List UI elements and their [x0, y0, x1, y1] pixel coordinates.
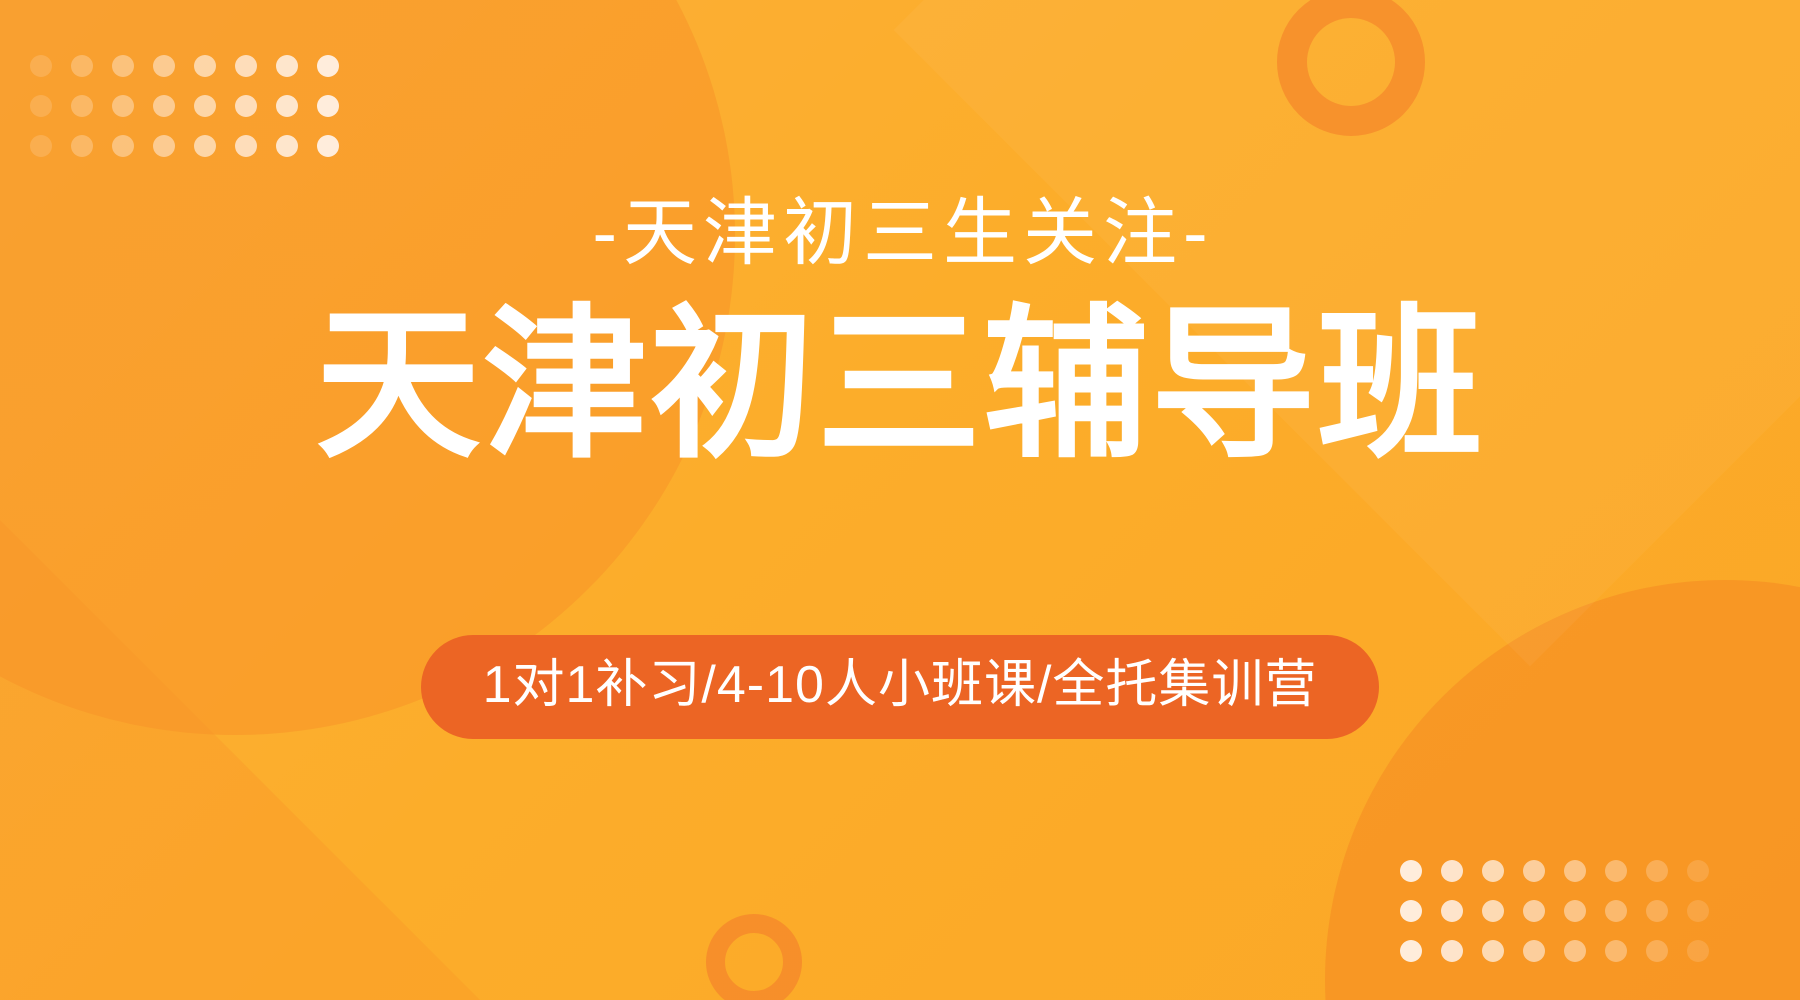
- banner-content: -天津初三生关注- 天津初三辅导班 1对1补习/4-10人小班课/全托集训营: [0, 0, 1800, 1000]
- banner-offer-pill[interactable]: 1对1补习/4-10人小班课/全托集训营: [421, 635, 1380, 739]
- banner-headline: 天津初三辅导班: [316, 296, 1485, 474]
- promo-banner: -天津初三生关注- 天津初三辅导班 1对1补习/4-10人小班课/全托集训营: [0, 0, 1800, 1000]
- banner-eyebrow: -天津初三生关注-: [586, 196, 1213, 270]
